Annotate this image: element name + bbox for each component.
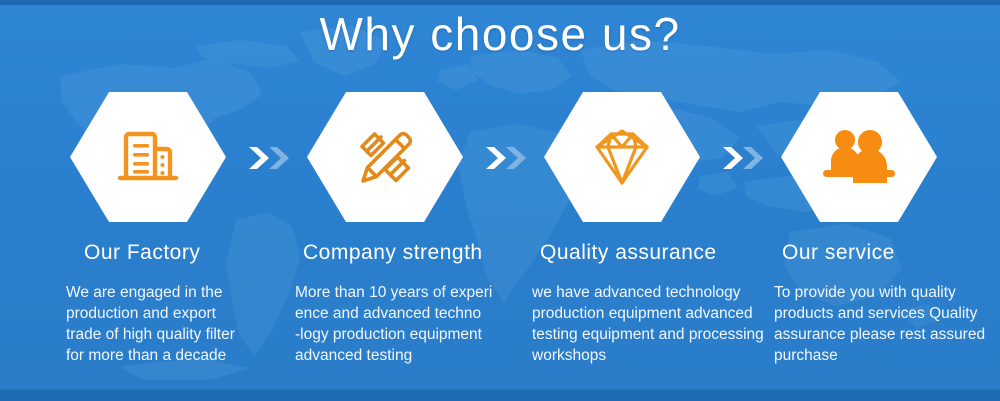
diamond-icon — [585, 125, 659, 189]
feature-heading: Our service — [769, 240, 1000, 266]
description-line: To provide you with quality — [774, 282, 1000, 303]
hexagon-badge — [70, 92, 226, 222]
double-chevron-right-icon — [721, 145, 767, 171]
description-line: production and export — [66, 303, 290, 324]
feature-description: we have advanced technology production e… — [532, 282, 770, 366]
feature-description: We are engaged in the production and exp… — [66, 282, 290, 366]
feature-card-quality-assurance[interactable]: Quality assurance we have advanced techn… — [532, 92, 769, 222]
hexagon-badge — [544, 92, 700, 222]
feature-heading: Company strength — [295, 240, 540, 266]
description-line: testing equipment and processing — [532, 324, 770, 345]
feature-card-our-service[interactable]: Our service To provide you with quality … — [769, 92, 1000, 222]
bottom-edge-band — [0, 391, 1000, 401]
description-line: -logy production equipment — [295, 324, 531, 345]
description-line: for more than a decade — [66, 345, 290, 366]
hexagon-wrap — [58, 92, 295, 222]
description-line: products and services Quality — [774, 303, 1000, 324]
description-line: purchase — [774, 345, 1000, 366]
hexagon-wrap — [769, 92, 1000, 222]
feature-card-company-strength[interactable]: Company strength More than 10 years of e… — [295, 92, 532, 222]
description-line: ence and advanced techno — [295, 303, 531, 324]
description-line: assurance please rest assured — [774, 324, 1000, 345]
feature-description: More than 10 years of experi ence and ad… — [295, 282, 531, 366]
hexagon-badge — [307, 92, 463, 222]
description-line: More than 10 years of experi — [295, 282, 531, 303]
hexagon-wrap — [532, 92, 769, 222]
feature-heading: Quality assurance — [532, 240, 777, 266]
description-line: advanced testing — [295, 345, 531, 366]
hexagon-badge — [781, 92, 937, 222]
hexagon-wrap — [295, 92, 532, 222]
office-building-icon — [114, 126, 182, 188]
feature-description: To provide you with quality products and… — [774, 282, 1000, 366]
pencil-ruler-icon — [350, 122, 420, 192]
feature-columns: Our Factory We are engaged in the produc… — [0, 92, 1000, 392]
description-line: We are engaged in the — [66, 282, 290, 303]
double-chevron-right-icon — [484, 145, 530, 171]
description-line: trade of high quality filter — [66, 324, 290, 345]
why-choose-us-banner: Why choose us? — [0, 0, 1000, 401]
page-title: Why choose us? — [0, 4, 1000, 64]
description-line: production equipment advanced — [532, 303, 770, 324]
description-line: we have advanced technology — [532, 282, 770, 303]
feature-heading: Our Factory — [58, 240, 321, 266]
two-people-service-icon — [820, 125, 898, 189]
double-chevron-right-icon — [247, 145, 293, 171]
description-line: workshops — [532, 345, 770, 366]
feature-card-our-factory[interactable]: Our Factory We are engaged in the produc… — [58, 92, 295, 222]
